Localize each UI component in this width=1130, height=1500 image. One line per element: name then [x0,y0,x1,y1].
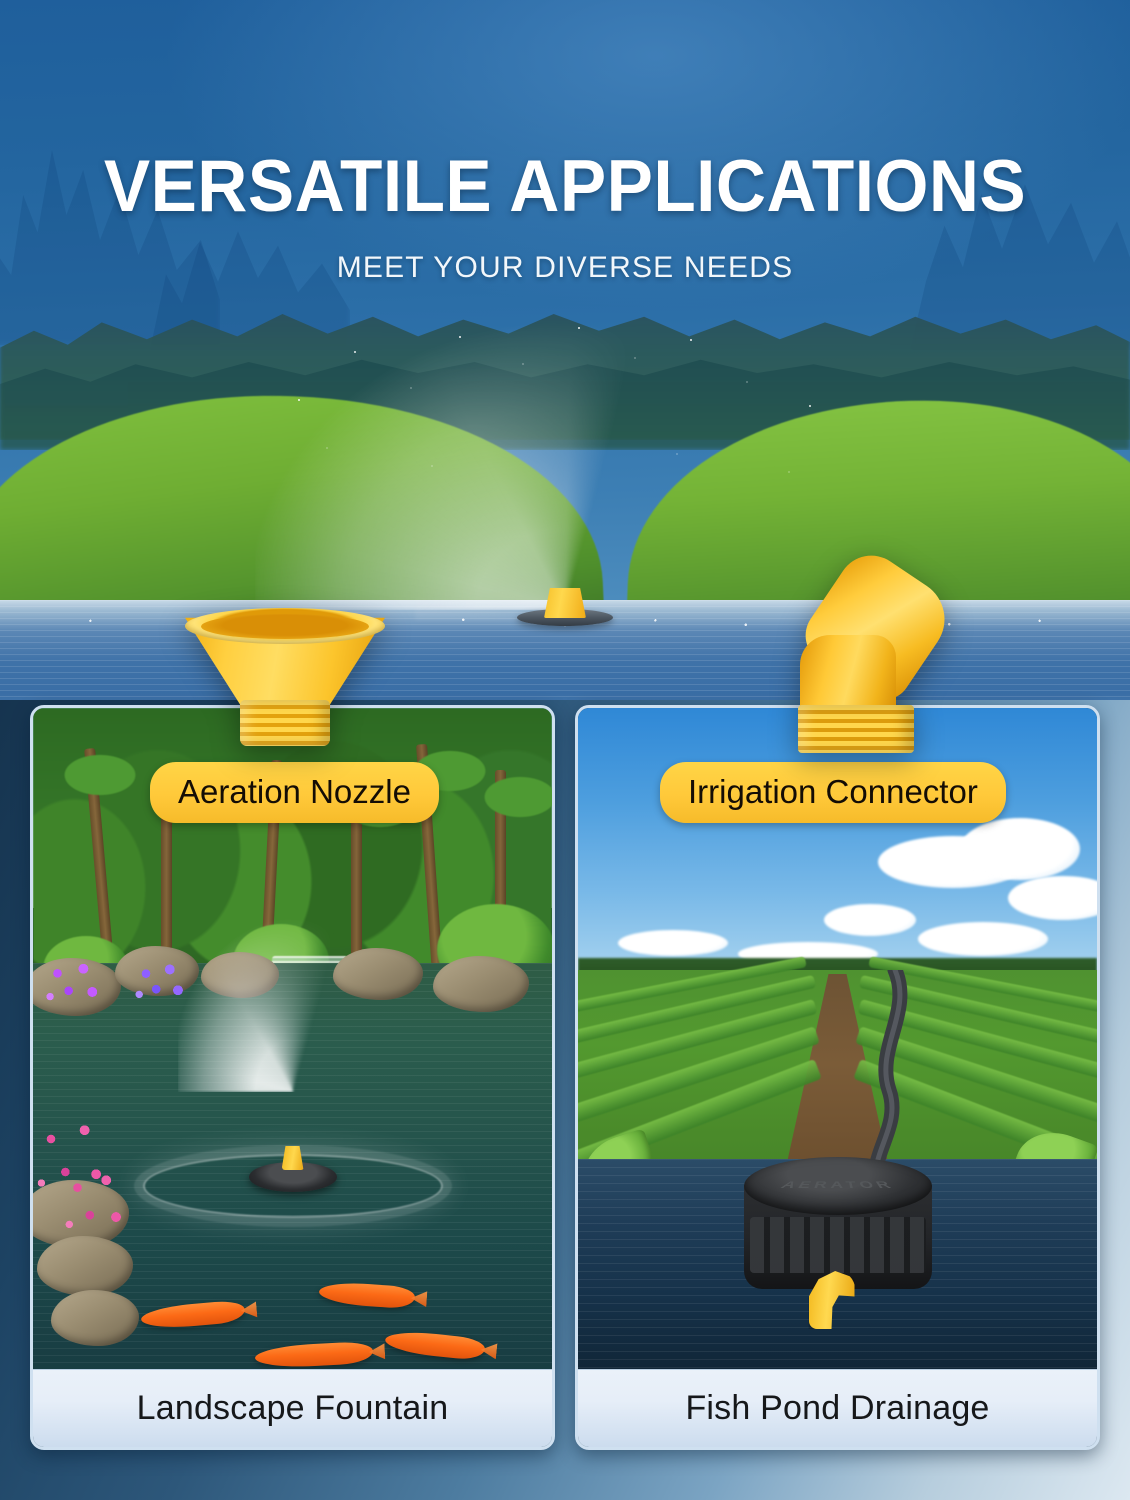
product-aeration-nozzle [185,608,385,748]
badge-aeration-nozzle: Aeration Nozzle [150,762,439,823]
pump-label: AERATOR [777,1180,899,1191]
rock [51,1290,139,1346]
fountain-jet [415,320,715,620]
cloud-icon [960,818,1080,880]
flower-cluster [39,956,113,1014]
flower-cluster [57,1160,139,1252]
funnel-threaded-base [240,700,330,746]
pond-spray [178,917,408,1092]
product-irrigation-connector [790,565,940,755]
elbow-threaded-base [798,705,914,753]
cloud-icon [918,922,1048,956]
funnel-inner-rim [201,614,369,639]
product-marketing-image: VERSATILE APPLICATIONS MEET YOUR DIVERSE… [0,0,1130,1500]
page-subtitle: MEET YOUR DIVERSE NEEDS [0,251,1130,285]
badge-irrigation-connector: Irrigation Connector [660,762,1006,823]
card-caption-landscape-fountain: Landscape Fountain [33,1369,552,1447]
rock [433,956,529,1012]
cloud-icon [824,904,916,936]
page-title: VERSATILE APPLICATIONS [28,150,1102,223]
palm-frond-icon [461,748,552,818]
cloud-icon [618,930,728,956]
hero-nozzle-icon [544,588,586,618]
pump-ribs [750,1217,926,1273]
headline-block: VERSATILE APPLICATIONS MEET YOUR DIVERSE… [0,150,1130,285]
card-caption-fish-pond-drainage: Fish Pond Drainage [578,1369,1097,1447]
